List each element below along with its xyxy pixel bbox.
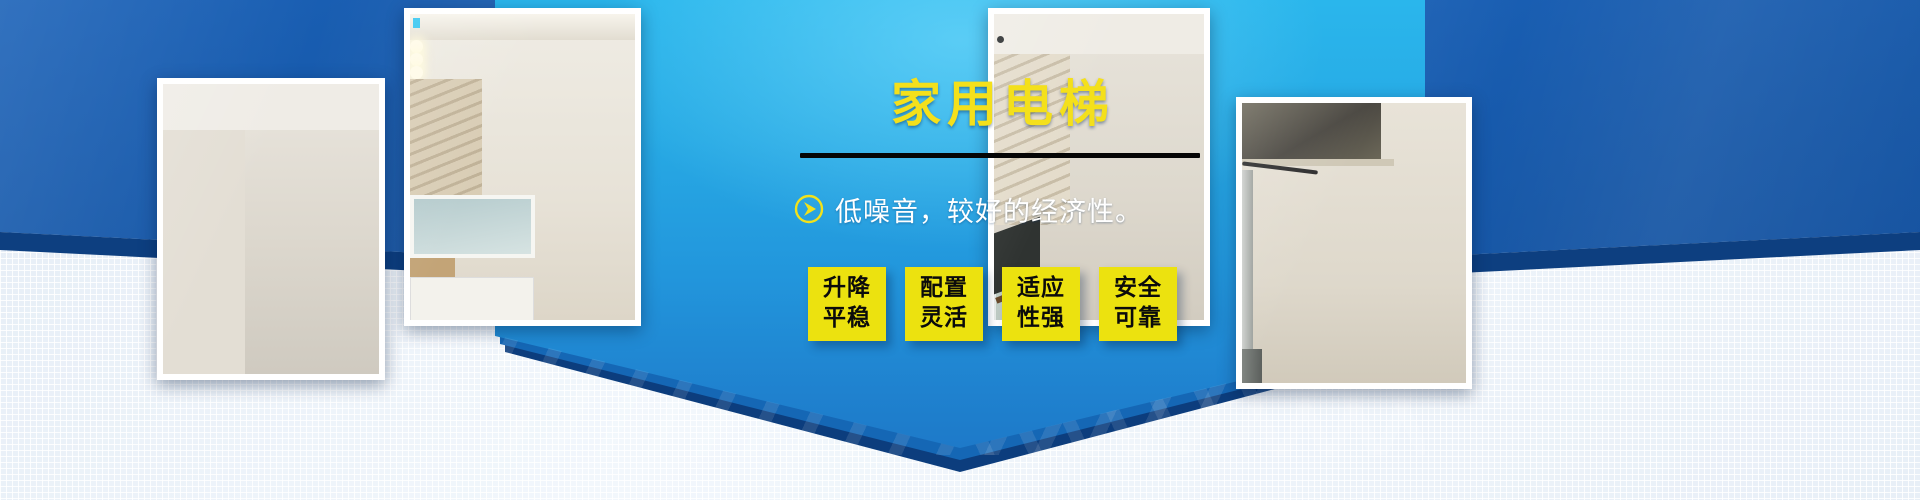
downlight-2 (410, 53, 423, 66)
cardboard-box (410, 258, 455, 276)
badge-item[interactable]: 配置 灵活 (905, 267, 983, 341)
badge-line-2: 性强 (1017, 304, 1065, 333)
badge-item[interactable]: 安全 可靠 (1099, 267, 1177, 341)
badge-line-2: 平稳 (823, 304, 871, 333)
ceiling-opening (1242, 103, 1381, 159)
copy-block: 家用电梯 低噪音，较好的经济性。 升降 平稳 配置 灵活 适应 性强 (790, 78, 1210, 341)
home-elevator-banner: 家用电梯 低噪音，较好的经济性。 升降 平稳 配置 灵活 适应 性强 (0, 0, 1920, 500)
badge-line-2: 可靠 (1114, 304, 1162, 333)
badge-line-1: 安全 (1114, 274, 1162, 303)
badge-line-1: 升降 (823, 274, 871, 303)
circle-arrow-right-icon (794, 194, 824, 224)
badge-item[interactable]: 适应 性强 (1002, 267, 1080, 341)
photo-2-scene (410, 14, 635, 320)
tagline-text: 低噪音，较好的经济性。 (835, 190, 1143, 229)
guide-rail (1242, 170, 1253, 349)
photo-frame-1[interactable] (157, 78, 385, 380)
photo-4-scene (1242, 103, 1466, 383)
downlight-1 (410, 40, 423, 53)
downlight-3 (410, 66, 423, 79)
wall-right (163, 130, 245, 374)
feature-badges: 升降 平稳 配置 灵活 适应 性强 安全 可靠 (808, 267, 1210, 341)
shaft-column (1242, 349, 1262, 383)
crown-molding (410, 14, 635, 40)
tagline-row: 低噪音，较好的经济性。 (794, 190, 1210, 229)
title-divider (800, 153, 1200, 158)
page-title: 家用电梯 (796, 78, 1210, 131)
photo-1-scene (163, 84, 379, 374)
ceiling (163, 84, 379, 130)
badge-line-2: 灵活 (920, 304, 968, 333)
photo-frame-2[interactable] (404, 8, 641, 326)
upper-glass-enclosure (410, 195, 535, 258)
badge-line-1: 适应 (1017, 274, 1065, 303)
photo-frame-4[interactable] (1236, 97, 1472, 389)
ceiling (994, 14, 1204, 54)
marble-staircase (410, 79, 482, 195)
elevator-frame (410, 277, 534, 320)
badge-line-1: 配置 (920, 274, 968, 303)
badge-item[interactable]: 升降 平稳 (808, 267, 886, 341)
